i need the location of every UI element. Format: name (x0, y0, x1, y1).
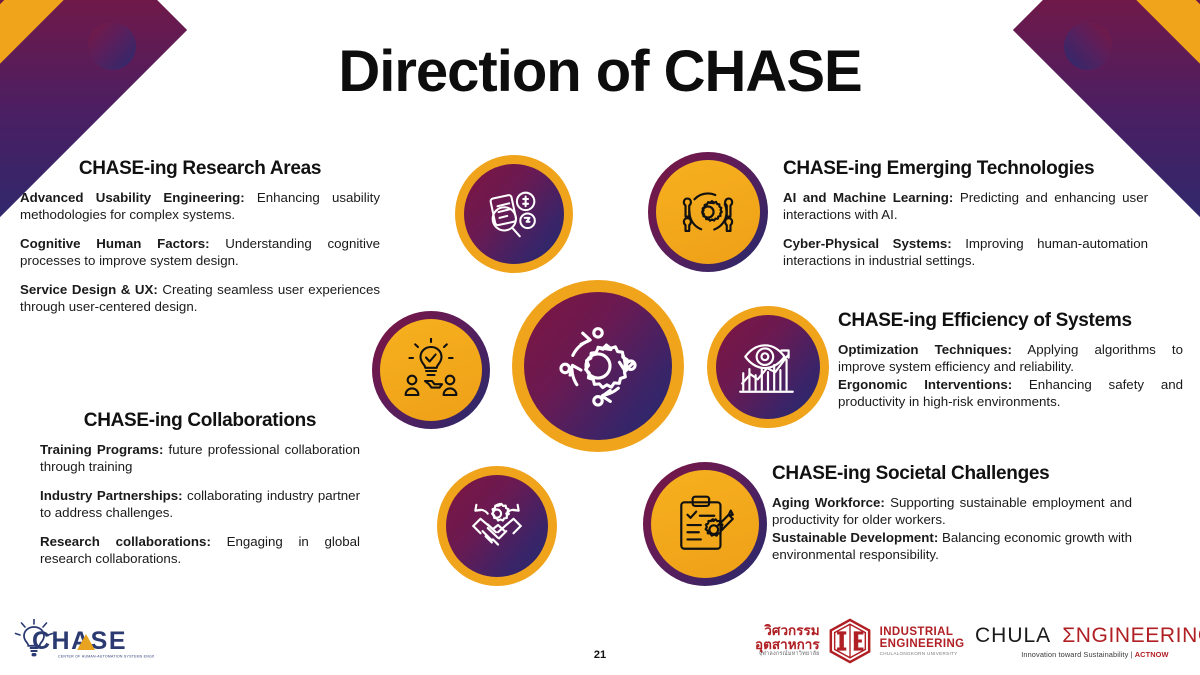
section-item: AI and Machine Learning: Predicting and … (783, 189, 1148, 223)
ie-en-line-1: INDUSTRIAL (880, 626, 965, 639)
item-term: Training Programs: (40, 442, 163, 457)
section-item: Research collaborations: Engaging in glo… (40, 533, 360, 567)
item-term: Industry Partnerships: (40, 488, 183, 503)
section-item: Ergonomic Interventions: Enhancing safet… (838, 376, 1183, 410)
people-gear-network-icon (648, 152, 768, 272)
actnow-label: ACTNOW (1135, 650, 1169, 659)
magnifier-document-icon (455, 155, 573, 273)
item-term: Cognitive Human Factors: (20, 236, 210, 251)
item-term: Ergonomic Interventions: (838, 377, 1012, 392)
section-heading: CHASE-ing Societal Challenges (772, 463, 1132, 485)
clipboard-checklist-icon (643, 462, 767, 586)
lightbulb-teamwork-icon (372, 311, 490, 429)
section-societal-challenges: CHASE-ing Societal Challenges Aging Work… (772, 463, 1132, 564)
chula-engineering-logo: CHULA ΣNGINEERING Innovation toward Sust… (975, 624, 1200, 659)
chula-tagline: Innovation toward Sustainability | (1021, 650, 1134, 659)
item-term: Aging Workforce: (772, 495, 885, 510)
ie-en-line-2: ENGINEERING (880, 638, 965, 651)
section-item: Training Programs: future professional c… (40, 441, 360, 475)
slide-title: Direction of CHASE (0, 38, 1200, 105)
section-item: Advanced Usability Engineering: Enhancin… (20, 189, 380, 223)
slide-footer: CHASE C CENTER OF HUMAN-AUTOMATION SYSTE… (0, 609, 1200, 675)
ie-monogram-icon (827, 618, 873, 664)
item-term: Research collaborations: (40, 534, 211, 549)
section-heading: CHASE-ing Efficiency of Systems (838, 310, 1183, 332)
item-term: Cyber-Physical Systems: (783, 236, 952, 251)
item-term: Service Design & UX: (20, 282, 158, 297)
item-term: Optimization Techniques: (838, 342, 1012, 357)
engineering-word: ΣNGINEERING (1062, 624, 1200, 648)
section-item: Optimization Techniques: Applying algori… (838, 341, 1183, 375)
section-collaborations: CHASE-ing Collaborations Training Progra… (40, 410, 360, 567)
section-item: Cognitive Human Factors: Understanding c… (20, 235, 380, 269)
section-item: Service Design & UX: Creating seamless u… (20, 281, 380, 315)
section-emerging-technologies: CHASE-ing Emerging Technologies AI and M… (783, 158, 1148, 269)
section-efficiency-of-systems: CHASE-ing Efficiency of Systems Optimiza… (838, 310, 1183, 411)
section-item: Aging Workforce: Supporting sustainable … (772, 494, 1132, 528)
item-term: Sustainable Development: (772, 530, 938, 545)
ie-en-line-3: CHULALONGKORN UNIVERSITY (880, 651, 965, 656)
section-research-areas: CHASE-ing Research Areas Advanced Usabil… (20, 158, 380, 315)
section-item: Cyber-Physical Systems: Improving human-… (783, 235, 1148, 269)
section-heading: CHASE-ing Emerging Technologies (783, 158, 1148, 180)
section-item: Sustainable Development: Balancing econo… (772, 529, 1132, 563)
item-term: Advanced Usability Engineering: (20, 190, 245, 205)
chula-word: CHULA (975, 624, 1051, 648)
handshake-gear-icon (437, 466, 557, 586)
ie-thai-line-3: จุฬาลงกรณ์มหาวิทยาลัย (755, 652, 820, 658)
section-heading: CHASE-ing Research Areas (20, 158, 380, 180)
section-heading: CHASE-ing Collaborations (40, 410, 360, 432)
gear-cycle-icon (512, 280, 684, 452)
industrial-engineering-logo: วิศวกรรม อุตสาหการ จุฬาลงกรณ์มหาวิทยาลัย… (755, 618, 965, 664)
eye-bar-chart-icon (707, 306, 829, 428)
section-item: Industry Partnerships: collaborating ind… (40, 487, 360, 521)
ie-thai-line-1: วิศวกรรม (755, 624, 820, 638)
item-term: AI and Machine Learning: (783, 190, 953, 205)
